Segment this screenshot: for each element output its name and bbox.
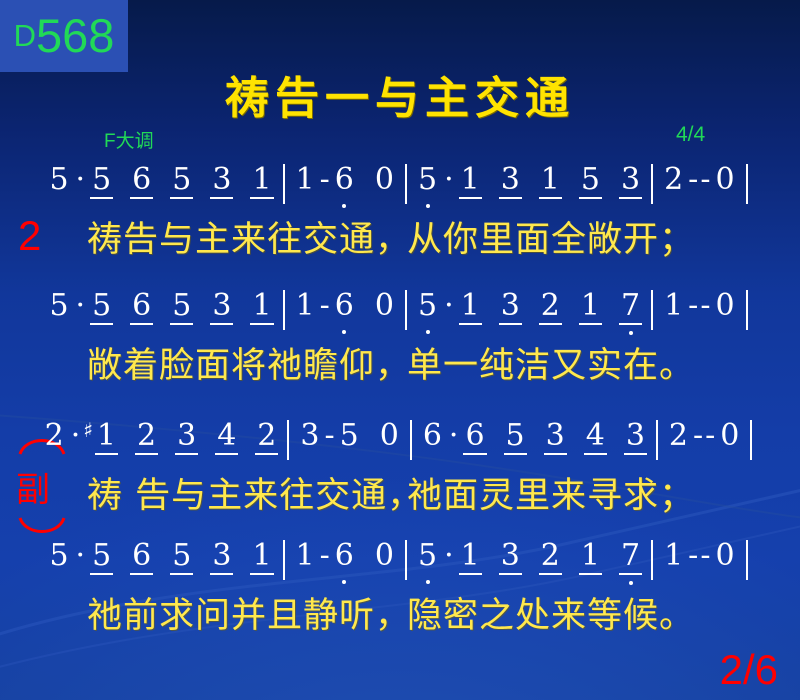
key-signature: F大调 bbox=[104, 126, 154, 153]
badge-prefix: D bbox=[14, 20, 36, 51]
lyrics-right: 隐密之处来等候。 bbox=[395, 587, 765, 638]
score-line-3-lyrics: 祷 告与主来往交通， 祂面灵里来寻求； bbox=[0, 466, 800, 518]
score-line-4-lyrics: 祂前求问并且静听， 隐密之处来等候。 bbox=[0, 586, 800, 638]
score-line-3: 2·♯1 23 42 3-50 6·6 53 43 2--0 祷 告与主来往交通… bbox=[0, 420, 800, 518]
lyrics-right: 单一纯洁又实在。 bbox=[395, 337, 765, 388]
score-line-1: 5·5 65 31 1-60 5·1 31 53 2--0 祷告与主来往交通， … bbox=[0, 164, 800, 262]
slide-canvas: D568 祷告一与主交通 F大调 4/4 2 副 5·5 65 31 1-60 … bbox=[0, 0, 800, 700]
score-line-2-notes: 5·5 65 31 1-60 5·1 32 17 1--0 bbox=[0, 290, 800, 336]
lyrics-right: 祂面灵里来寻求； bbox=[395, 467, 765, 518]
page-indicator: 2/6 bbox=[720, 646, 778, 694]
lyrics-left: 祷告与主来往交通， bbox=[35, 211, 395, 262]
score-line-1-lyrics: 祷告与主来往交通， 从你里面全敞开； bbox=[0, 210, 800, 262]
score-line-4-notes: 5·5 65 31 1-60 5·1 32 17 1--0 bbox=[0, 540, 800, 586]
score-line-2: 5·5 65 31 1-60 5·1 32 17 1--0 敞着脸面将祂瞻仰， … bbox=[0, 290, 800, 388]
lyrics-left: 敞着脸面将祂瞻仰， bbox=[35, 337, 395, 388]
lyrics-right: 从你里面全敞开； bbox=[395, 211, 765, 262]
page-title: 祷告一与主交通 bbox=[0, 62, 800, 126]
score-line-3-notes: 2·♯1 23 42 3-50 6·6 53 43 2--0 bbox=[0, 420, 800, 466]
time-signature: 4/4 bbox=[676, 123, 705, 147]
score-line-1-notes: 5·5 65 31 1-60 5·1 31 53 2--0 bbox=[0, 164, 800, 210]
badge-number: 568 bbox=[36, 12, 114, 59]
score-line-4: 5·5 65 31 1-60 5·1 32 17 1--0 祂前求问并且静听， … bbox=[0, 540, 800, 638]
lyrics-left: 祷 告与主来往交通， bbox=[35, 467, 395, 518]
score-line-2-lyrics: 敞着脸面将祂瞻仰， 单一纯洁又实在。 bbox=[0, 336, 800, 388]
lyrics-left: 祂前求问并且静听， bbox=[35, 587, 395, 638]
